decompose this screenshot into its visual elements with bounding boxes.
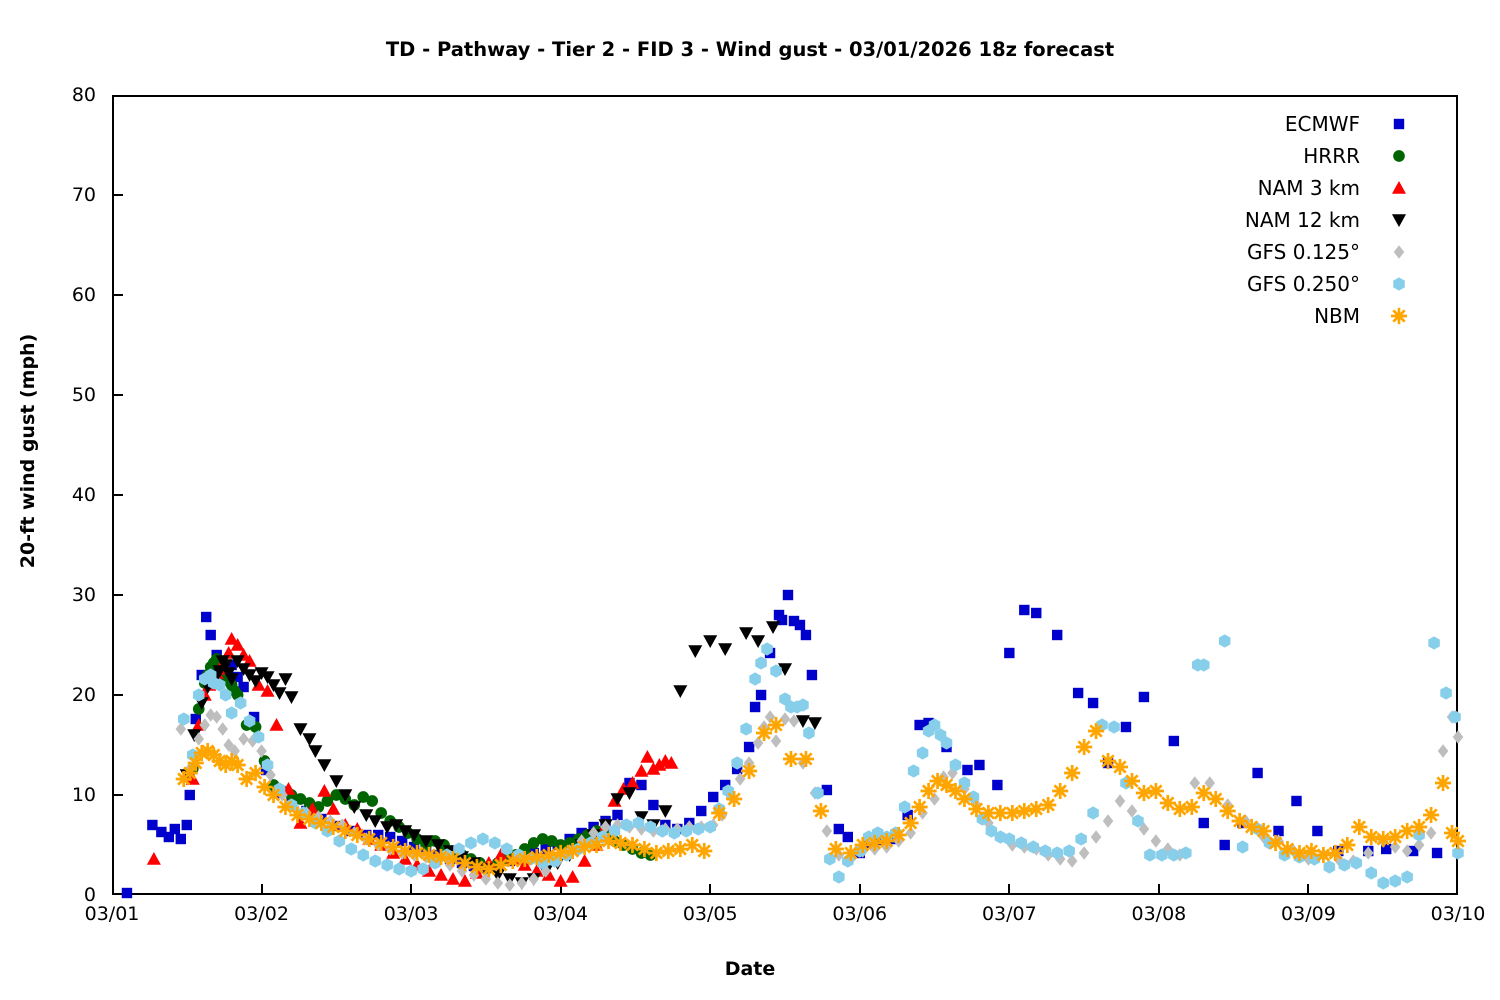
x-axis-tick-mark [261, 884, 263, 895]
y-axis-tick-label: 60 [36, 284, 96, 306]
legend-item-nam-3-km[interactable]: NAM 3 km [1150, 172, 1410, 204]
y-axis-label: 20-ft wind gust (mph) [17, 271, 39, 631]
blue-square-marker-icon [1388, 113, 1410, 135]
y-axis-tick-mark [112, 394, 123, 396]
x-axis-tick-mark [709, 884, 711, 895]
x-axis-tick-mark [410, 884, 412, 895]
x-axis-tick-mark [859, 884, 861, 895]
x-axis-label: Date [0, 958, 1500, 980]
gray-diamond-marker-icon [1388, 241, 1410, 263]
y-axis-tick-label: 80 [36, 84, 96, 106]
y-axis-tick-label: 30 [36, 584, 96, 606]
y-axis-tick-label: 10 [36, 784, 96, 806]
black-triangle-down-marker-icon [1388, 209, 1410, 231]
x-axis-tick-mark [560, 884, 562, 895]
x-axis-tick-label: 03/08 [1099, 903, 1219, 925]
legend-item-label: HRRR [1303, 144, 1388, 168]
wind-gust-scatter-figure: TD - Pathway - Tier 2 - FID 3 - Wind gus… [0, 0, 1500, 1000]
y-axis-tick-mark [112, 294, 123, 296]
y-axis-tick-mark [112, 594, 123, 596]
legend-item-gfs-0-125[interactable]: GFS 0.125° [1150, 236, 1410, 268]
y-axis-tick-label: 20 [36, 684, 96, 706]
legend-item-label: GFS 0.125° [1247, 240, 1388, 264]
y-axis-tick-mark [112, 794, 123, 796]
x-axis-tick-mark [1158, 884, 1160, 895]
x-axis-tick-label: 03/05 [650, 903, 770, 925]
y-axis-tick-mark [112, 694, 123, 696]
y-axis-tick-label: 40 [36, 484, 96, 506]
x-axis-tick-label: 03/01 [52, 903, 172, 925]
lightblue-hexagon-marker-icon [1388, 273, 1410, 295]
x-axis-tick-label: 03/09 [1248, 903, 1368, 925]
red-triangle-up-marker-icon [1388, 177, 1410, 199]
legend-item-label: NAM 3 km [1258, 176, 1388, 200]
legend-item-label: GFS 0.250° [1247, 272, 1388, 296]
legend-item-gfs-0-250[interactable]: GFS 0.250° [1150, 268, 1410, 300]
legend-item-hrrr[interactable]: HRRR [1150, 140, 1410, 172]
page-title: TD - Pathway - Tier 2 - FID 3 - Wind gus… [0, 38, 1500, 61]
x-axis-tick-label: 03/03 [351, 903, 471, 925]
y-axis-tick-mark [112, 494, 123, 496]
legend-item-nbm[interactable]: NBM [1150, 300, 1410, 332]
legend-item-ecmwf[interactable]: ECMWF [1150, 108, 1410, 140]
x-axis-tick-label: 03/04 [501, 903, 621, 925]
legend-item-label: NBM [1314, 304, 1388, 328]
x-axis-tick-label: 03/10 [1398, 903, 1500, 925]
y-axis-tick-label: 50 [36, 384, 96, 406]
green-circle-marker-icon [1388, 145, 1410, 167]
y-axis-tick-mark [112, 194, 123, 196]
x-axis-tick-label: 03/02 [202, 903, 322, 925]
orange-asterisk-marker-icon [1388, 305, 1410, 327]
x-axis-tick-mark [1307, 884, 1309, 895]
legend: ECMWFHRRRNAM 3 kmNAM 12 kmGFS 0.125°GFS … [1150, 108, 1410, 332]
x-axis-tick-label: 03/07 [949, 903, 1069, 925]
legend-item-label: NAM 12 km [1245, 208, 1388, 232]
x-axis-tick-mark [1008, 884, 1010, 895]
y-axis-tick-label: 70 [36, 184, 96, 206]
legend-item-label: ECMWF [1285, 112, 1388, 136]
legend-item-nam-12-km[interactable]: NAM 12 km [1150, 204, 1410, 236]
x-axis-tick-label: 03/06 [800, 903, 920, 925]
